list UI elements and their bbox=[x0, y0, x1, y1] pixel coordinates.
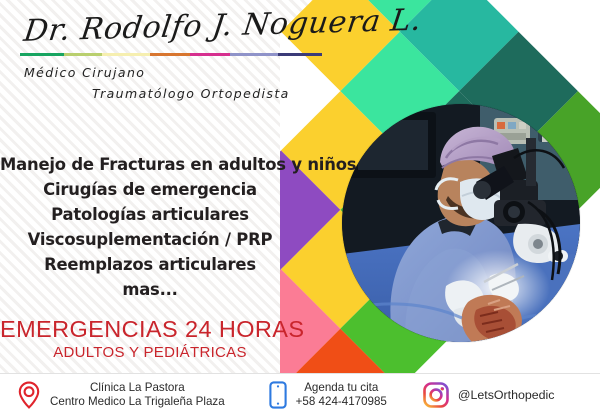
footer-instagram[interactable]: @LetsOrthopedic bbox=[423, 382, 555, 408]
service-item: Cirugías de emergencia bbox=[0, 177, 300, 202]
emergency-notice: EMERGENCIAS 24 HORAS ADULTOS Y PEDIÁTRIC… bbox=[0, 316, 300, 361]
services-list: Manejo de Fracturas en adultos y niños C… bbox=[0, 152, 300, 302]
rule-segment-periwinkle bbox=[230, 53, 278, 56]
phone-line-1: Agenda tu cita bbox=[304, 381, 378, 394]
rule-segment-light-green bbox=[64, 53, 102, 56]
role-line-2: Traumatólogo Ortopedista bbox=[92, 86, 318, 101]
service-item: mas... bbox=[0, 277, 300, 302]
mobile-phone-icon bbox=[269, 381, 287, 409]
footer-phone: Agenda tu cita +58 424-4170985 bbox=[269, 381, 387, 409]
location-line-1: Clínica La Pastora bbox=[90, 381, 185, 394]
role-line-1: Médico Cirujano bbox=[24, 65, 318, 80]
rule-segment-orange bbox=[150, 53, 190, 56]
phone-text: Agenda tu cita +58 424-4170985 bbox=[296, 381, 387, 409]
service-item: Patologías articulares bbox=[0, 202, 300, 227]
location-pin-icon bbox=[18, 381, 40, 409]
instagram-icon[interactable] bbox=[423, 382, 449, 408]
rule-segment-cream bbox=[102, 53, 150, 56]
footer-location: Clínica La Pastora Centro Medico La Trig… bbox=[18, 381, 225, 409]
rule-segment-dark-purple bbox=[278, 53, 322, 56]
emergency-subtitle: ADULTOS Y PEDIÁTRICAS bbox=[0, 344, 300, 361]
location-line-2: Centro Medico La Trigaleña Plaza bbox=[50, 395, 225, 408]
emergency-title: EMERGENCIAS 24 HORAS bbox=[0, 316, 300, 343]
location-text: Clínica La Pastora Centro Medico La Trig… bbox=[50, 381, 225, 409]
service-item: Reemplazos articulares bbox=[0, 252, 300, 277]
instagram-handle[interactable]: @LetsOrthopedic bbox=[458, 388, 555, 402]
rule-segment-magenta bbox=[190, 53, 230, 56]
service-item: Viscosuplementación / PRP bbox=[0, 227, 300, 252]
color-rule-divider bbox=[20, 53, 322, 56]
surgery-photo bbox=[342, 104, 580, 342]
contact-footer: Clínica La Pastora Centro Medico La Trig… bbox=[0, 373, 600, 415]
signature-name: Dr. Rodolfo J. Noguera L. bbox=[16, 6, 322, 49]
service-item: Manejo de Fracturas en adultos y niños bbox=[0, 152, 300, 177]
phone-number: +58 424-4170985 bbox=[296, 395, 387, 408]
business-card: Dr. Rodolfo J. Noguera L. Médico Cirujan… bbox=[0, 0, 600, 415]
rule-segment-green bbox=[20, 53, 64, 56]
name-block: Dr. Rodolfo J. Noguera L. Médico Cirujan… bbox=[18, 14, 318, 101]
